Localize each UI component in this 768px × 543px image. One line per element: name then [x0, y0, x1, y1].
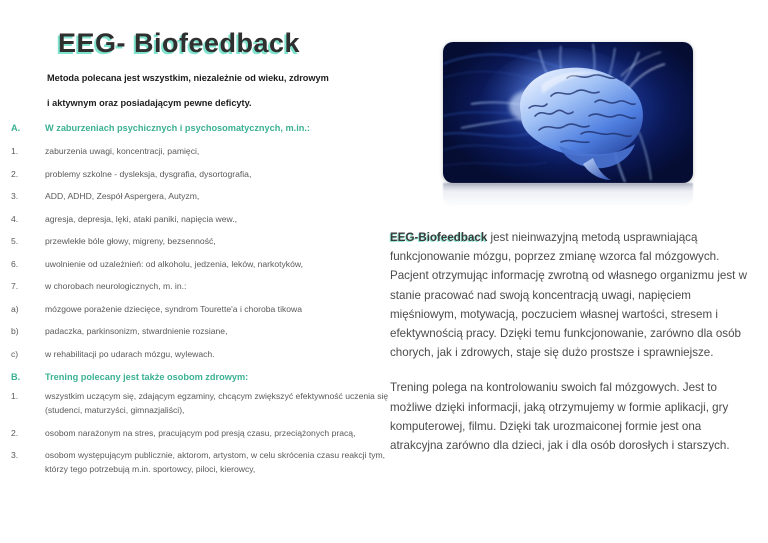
list-item-marker: 2.	[0, 163, 45, 186]
list-item-text: w rehabilitacji po udarach mózgu, wylewa…	[45, 343, 420, 366]
list-item-text: agresja, depresja, lęki, ataki paniki, n…	[45, 208, 420, 231]
brain-figure	[443, 42, 693, 183]
section-title-a: W zaburzeniach psychicznych i psychosoma…	[45, 116, 420, 140]
section-heading-b: B. Trening polecany jest także osobom zd…	[0, 365, 420, 389]
list-item-text: problemy szkolne - dysleksja, dysgrafia,…	[45, 163, 420, 186]
list-item: b) padaczka, parkinsonizm, stwardnienie …	[0, 320, 420, 343]
body-paragraph-1: EEG-Biofeedback jest nieinwazyjną metodą…	[390, 228, 750, 362]
list-item-marker: 3.	[0, 448, 45, 476]
list-item-marker: 6.	[0, 253, 45, 276]
list-item: a) mózgowe porażenie dziecięce, syndrom …	[0, 298, 420, 321]
list-item: 7. w chorobach neurologicznych, m. in.:	[0, 275, 420, 298]
list-item-text: uwolnienie od uzależnień: od alkoholu, j…	[45, 253, 420, 276]
page-title: EEG- Biofeedback	[58, 28, 300, 59]
list-item: 4. agresja, depresja, lęki, ataki paniki…	[0, 208, 420, 231]
list-item: 3. osobom występującym publicznie, aktor…	[0, 448, 420, 476]
document-page: EEG- Biofeedback	[0, 0, 768, 543]
list-item-marker: 1.	[0, 389, 45, 417]
brain-illustration-icon	[443, 42, 693, 183]
list-item-text: ADD, ADHD, Zespół Aspergera, Autyzm,	[45, 185, 420, 208]
list-item-text: przewlekłe bóle głowy, migreny, bezsenno…	[45, 230, 420, 253]
list-item-text: zaburzenia uwagi, koncentracji, pamięci,	[45, 140, 420, 163]
list-item-text: osobom narażonym na stres, pracującym po…	[45, 426, 420, 440]
list-item-marker: 5.	[0, 230, 45, 253]
section-heading-a: A. W zaburzeniach psychicznych i psychos…	[0, 116, 420, 140]
list-item: 3. ADD, ADHD, Zespół Aspergera, Autyzm,	[0, 185, 420, 208]
list-item: 6. uwolnienie od uzależnień: od alkoholu…	[0, 253, 420, 276]
list-item: 2. problemy szkolne - dysleksja, dysgraf…	[0, 163, 420, 186]
list-item-text: w chorobach neurologicznych, m. in.:	[45, 275, 420, 298]
list-item-text: padaczka, parkinsonizm, stwardnienie roz…	[45, 320, 420, 343]
list-item-text: wszystkim uczącym się, zdającym egzaminy…	[45, 389, 420, 417]
brand-word: EEG-Biofeedback	[390, 231, 487, 244]
brain-image-reflection	[443, 183, 693, 207]
body-paragraph-2: Trening polega na kontrolowaniu swoich f…	[390, 378, 750, 455]
list-item-text: mózgowe porażenie dziecięce, syndrom Tou…	[45, 298, 420, 321]
list-item: 1. zaburzenia uwagi, koncentracji, pamię…	[0, 140, 420, 163]
section-marker-a: A.	[0, 116, 45, 140]
list-item: c) w rehabilitacji po udarach mózgu, wyl…	[0, 343, 420, 366]
list-item-marker: 1.	[0, 140, 45, 163]
lead-line-1: Metoda polecana jest wszystkim, niezależ…	[0, 66, 420, 91]
list-item: 2. osobom narażonym na stres, pracującym…	[0, 426, 420, 440]
list-item-text: osobom występującym publicznie, aktorom,…	[45, 448, 420, 476]
list-item: 5. przewlekłe bóle głowy, migreny, bezse…	[0, 230, 420, 253]
right-column: EEG-Biofeedback jest nieinwazyjną metodą…	[390, 228, 750, 455]
left-column: Metoda polecana jest wszystkim, niezależ…	[0, 66, 420, 485]
list-item-marker: b)	[0, 320, 45, 343]
list-item-marker: c)	[0, 343, 45, 366]
body-paragraph-1-rest: jest nieinwazyjną metodą usprawniającą f…	[390, 231, 747, 359]
lead-line-2: i aktywnym oraz posiadającym pewne defic…	[0, 91, 420, 116]
section-title-b: Trening polecany jest także osobom zdrow…	[45, 365, 420, 389]
lead-paragraph: Metoda polecana jest wszystkim, niezależ…	[0, 66, 420, 116]
brain-image	[443, 42, 693, 183]
list-item-marker: 2.	[0, 426, 45, 440]
list-item: 1. wszystkim uczącym się, zdającym egzam…	[0, 389, 420, 417]
list-item-marker: 3.	[0, 185, 45, 208]
list-item-marker: 4.	[0, 208, 45, 231]
section-marker-b: B.	[0, 365, 45, 389]
list-item-marker: a)	[0, 298, 45, 321]
list-item-marker: 7.	[0, 275, 45, 298]
